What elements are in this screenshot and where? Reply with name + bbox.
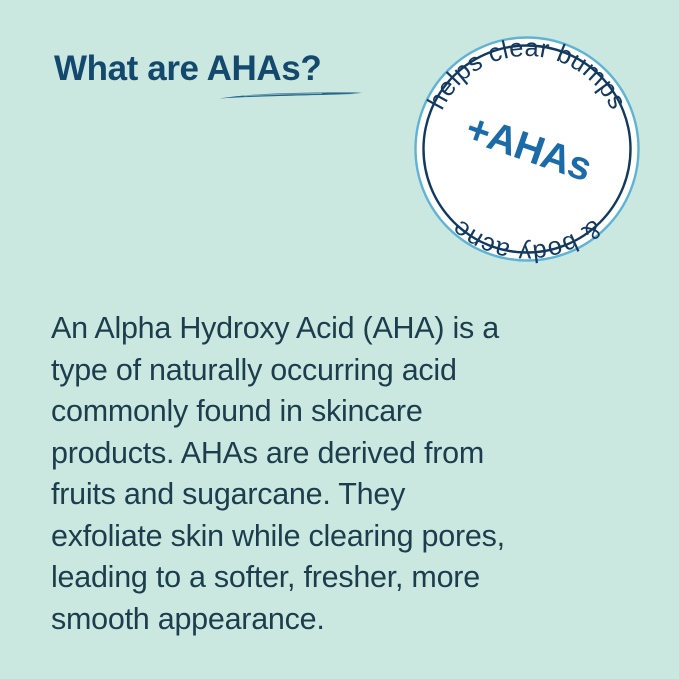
aha-badge: helps clear bumps & body acne +AHAs	[411, 33, 643, 265]
body-copy: An Alpha Hydroxy Acid (AHA) is a type of…	[51, 308, 621, 640]
body-line: commonly found in skincare	[51, 391, 621, 433]
body-line: products. AHAs are derived from	[51, 433, 621, 475]
body-line: fruits and sugarcane. They	[51, 474, 621, 516]
body-line: smooth appearance.	[51, 599, 621, 641]
heading-block: What are AHAs?	[54, 48, 394, 108]
body-line: An Alpha Hydroxy Acid (AHA) is a	[51, 308, 621, 350]
brush-underline-icon	[218, 88, 364, 102]
body-line: exfoliate skin while clearing pores,	[51, 516, 621, 558]
body-line: leading to a softer, fresher, more	[51, 557, 621, 599]
body-paragraph: An Alpha Hydroxy Acid (AHA) is a type of…	[51, 308, 621, 640]
infographic-card: What are AHAs? helps clear bumps	[0, 0, 679, 679]
page-title: What are AHAs?	[54, 48, 394, 90]
body-line: type of naturally occurring acid	[51, 350, 621, 392]
